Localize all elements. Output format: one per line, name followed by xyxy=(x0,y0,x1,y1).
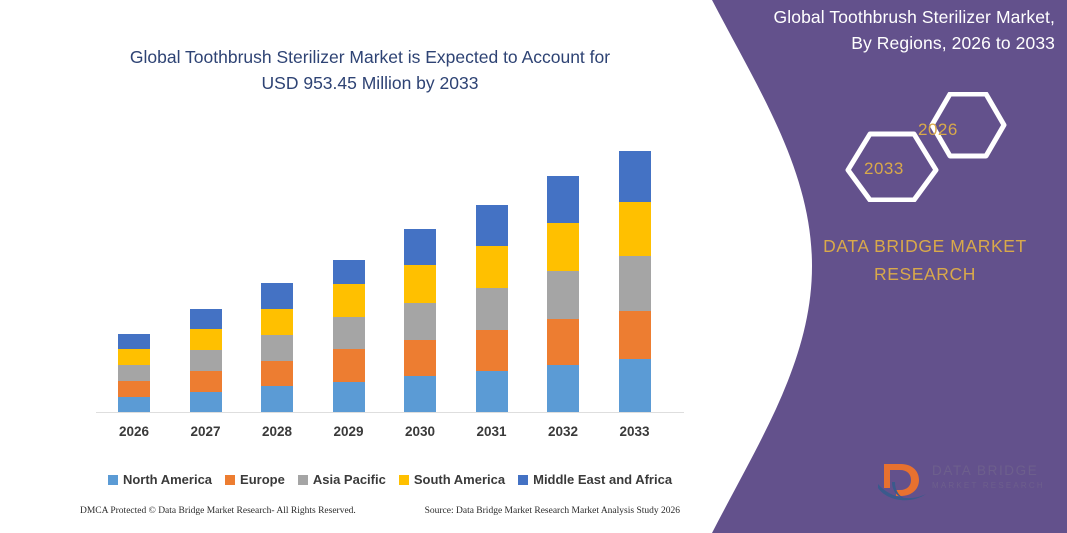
x-tick-label: 2030 xyxy=(390,424,450,439)
chart-title-line1: Global Toothbrush Sterilizer Market is E… xyxy=(60,44,680,70)
bar-segment[interactable] xyxy=(190,350,222,371)
panel-title-line1: Global Toothbrush Sterilizer Market, xyxy=(735,4,1055,30)
bar-segment[interactable] xyxy=(333,349,365,382)
legend-item[interactable]: South America xyxy=(399,472,505,487)
bar-segment[interactable] xyxy=(261,386,293,413)
bar-segment[interactable] xyxy=(118,349,150,365)
bar-segment[interactable] xyxy=(476,246,508,288)
bar-segment[interactable] xyxy=(476,330,508,371)
bar-group[interactable] xyxy=(619,151,651,413)
bar-segment[interactable] xyxy=(547,319,579,365)
bar-segment[interactable] xyxy=(547,223,579,271)
infographic-root: Global Toothbrush Sterilizer Market, By … xyxy=(0,0,1067,533)
bar-segment[interactable] xyxy=(547,176,579,223)
bar-segment[interactable] xyxy=(261,335,293,361)
legend-item[interactable]: Europe xyxy=(225,472,285,487)
bar-group[interactable] xyxy=(190,309,222,413)
bar-segment[interactable] xyxy=(547,271,579,319)
panel-title-line2: By Regions, 2026 to 2033 xyxy=(735,30,1055,56)
panel-title: Global Toothbrush Sterilizer Market, By … xyxy=(735,4,1055,56)
legend-swatch-icon xyxy=(298,475,308,485)
bar-segment[interactable] xyxy=(404,340,436,376)
legend-label: Middle East and Africa xyxy=(533,472,672,487)
bar-segment[interactable] xyxy=(619,359,651,413)
bar-segment[interactable] xyxy=(547,365,579,413)
bar-segment[interactable] xyxy=(476,205,508,246)
bar-segment[interactable] xyxy=(190,329,222,350)
bar-segment[interactable] xyxy=(190,392,222,413)
legend-label: Asia Pacific xyxy=(313,472,386,487)
bar-segment[interactable] xyxy=(261,283,293,309)
brand-name-line2: RESEARCH xyxy=(800,260,1050,288)
hexagon-label-2026: 2026 xyxy=(918,120,958,140)
legend-swatch-icon xyxy=(108,475,118,485)
bar-group[interactable] xyxy=(476,205,508,413)
x-tick-label: 2033 xyxy=(605,424,665,439)
bar-segment[interactable] xyxy=(190,309,222,329)
chart-legend: North AmericaEuropeAsia PacificSouth Ame… xyxy=(96,472,684,487)
dbmr-mark-icon xyxy=(876,458,932,504)
x-tick-label: 2032 xyxy=(533,424,593,439)
legend-swatch-icon xyxy=(225,475,235,485)
hexagon-outlines-icon xyxy=(828,92,1018,202)
bar-segment[interactable] xyxy=(118,334,150,349)
legend-label: Europe xyxy=(240,472,285,487)
x-axis-line xyxy=(96,412,684,413)
brand-name: DATA BRIDGE MARKET RESEARCH xyxy=(800,232,1050,288)
bar-segment[interactable] xyxy=(261,309,293,335)
dbmr-logo: DATA BRIDGE MARKET RESEARCH xyxy=(876,458,1052,506)
legend-item[interactable]: Middle East and Africa xyxy=(518,472,672,487)
bar-segment[interactable] xyxy=(333,317,365,349)
bar-segment[interactable] xyxy=(118,381,150,397)
bar-segment[interactable] xyxy=(404,376,436,413)
bar-group[interactable] xyxy=(333,260,365,413)
x-tick-label: 2029 xyxy=(319,424,379,439)
dbmr-logo-line2: MARKET RESEARCH xyxy=(932,479,1052,493)
bar-group[interactable] xyxy=(118,334,150,413)
bar-segment[interactable] xyxy=(476,288,508,330)
bar-group[interactable] xyxy=(404,229,436,413)
bar-segment[interactable] xyxy=(190,371,222,392)
bar-segment[interactable] xyxy=(619,311,651,359)
legend-item[interactable]: North America xyxy=(108,472,212,487)
bar-segment[interactable] xyxy=(261,361,293,386)
bar-segment[interactable] xyxy=(404,229,436,265)
bar-segment[interactable] xyxy=(118,397,150,413)
x-tick-label: 2028 xyxy=(247,424,307,439)
bar-segment[interactable] xyxy=(118,365,150,381)
bar-group[interactable] xyxy=(547,176,579,413)
bar-segment[interactable] xyxy=(619,256,651,311)
brand-name-line1: DATA BRIDGE MARKET xyxy=(800,232,1050,260)
footer-copyright: DMCA Protected © Data Bridge Market Rese… xyxy=(80,506,356,516)
bar-group[interactable] xyxy=(261,283,293,413)
x-tick-label: 2027 xyxy=(176,424,236,439)
bar-segment[interactable] xyxy=(404,303,436,340)
x-tick-label: 2031 xyxy=(462,424,522,439)
chart-plot-area xyxy=(96,130,684,413)
hexagon-badge-group: 2026 2033 xyxy=(828,92,1018,202)
x-tick-label: 2026 xyxy=(104,424,164,439)
footer-source: Source: Data Bridge Market Research Mark… xyxy=(425,506,680,516)
bar-segment[interactable] xyxy=(333,382,365,413)
chart-title: Global Toothbrush Sterilizer Market is E… xyxy=(60,44,680,96)
legend-label: South America xyxy=(414,472,505,487)
bar-segment[interactable] xyxy=(333,284,365,317)
bar-segment[interactable] xyxy=(619,202,651,256)
dbmr-logo-text: DATA BRIDGE MARKET RESEARCH xyxy=(932,463,1052,493)
legend-swatch-icon xyxy=(399,475,409,485)
bar-segment[interactable] xyxy=(333,260,365,284)
footer: DMCA Protected © Data Bridge Market Rese… xyxy=(80,506,680,516)
bar-segment[interactable] xyxy=(476,371,508,413)
legend-item[interactable]: Asia Pacific xyxy=(298,472,386,487)
bar-segment[interactable] xyxy=(404,265,436,303)
hexagon-label-2033: 2033 xyxy=(864,159,904,179)
chart-title-line2: USD 953.45 Million by 2033 xyxy=(60,70,680,96)
legend-swatch-icon xyxy=(518,475,528,485)
bar-segment[interactable] xyxy=(619,151,651,202)
dbmr-logo-line1: DATA BRIDGE xyxy=(932,463,1052,479)
legend-label: North America xyxy=(123,472,212,487)
